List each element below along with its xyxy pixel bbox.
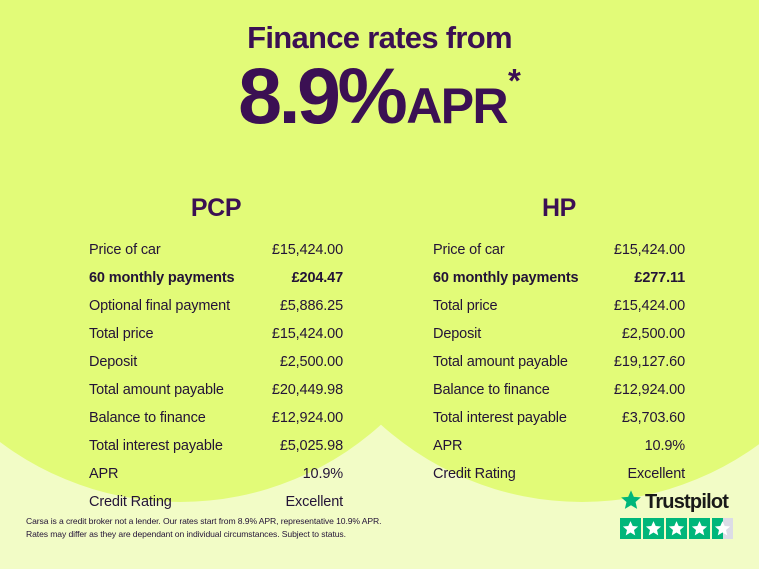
plan-table-hp: HP Price of car£15,424.0060 monthly paym… [433, 194, 685, 494]
plan-title-hp: HP [433, 194, 685, 223]
row-label: 60 monthly payments [433, 270, 578, 286]
row-label: Total interest payable [89, 438, 223, 454]
disclaimer-text: Carsa is a credit broker not a lender. O… [26, 515, 446, 541]
row-value: £277.11 [634, 270, 685, 286]
row-label: Total amount payable [433, 354, 568, 370]
row-value: £19,127.60 [614, 354, 685, 370]
row-value: £2,500.00 [280, 354, 343, 370]
table-row: APR10.9% [433, 438, 685, 466]
table-row: Total price£15,424.00 [433, 298, 685, 326]
trustpilot-star-tile [666, 518, 687, 539]
trustpilot-star-tile [712, 518, 733, 539]
table-row: 60 monthly payments£277.11 [433, 270, 685, 298]
row-label: Optional final payment [89, 298, 230, 314]
row-value: £12,924.00 [614, 382, 685, 398]
row-label: Deposit [89, 354, 137, 370]
row-label: APR [89, 466, 118, 482]
row-value: £204.47 [292, 270, 343, 286]
trustpilot-logo: Trustpilot [620, 490, 736, 514]
table-row: Deposit£2,500.00 [89, 354, 343, 382]
header: Finance rates from 8.9% APR * [0, 19, 759, 135]
trustpilot-wordmark-text: Trustpilot [645, 492, 728, 512]
rate-unit: APR [406, 81, 507, 131]
row-value: £3,703.60 [622, 410, 685, 426]
row-label: 60 monthly payments [89, 270, 234, 286]
table-row: Optional final payment£5,886.25 [89, 298, 343, 326]
row-value: £15,424.00 [272, 242, 343, 258]
trustpilot-star-icon [620, 489, 642, 516]
row-value: £5,025.98 [280, 438, 343, 454]
row-label: APR [433, 438, 462, 454]
row-value: 10.9% [645, 438, 685, 454]
row-value: £20,449.98 [272, 382, 343, 398]
row-label: Total amount payable [89, 382, 224, 398]
row-label: Total interest payable [433, 410, 567, 426]
table-row: 60 monthly payments£204.47 [89, 270, 343, 298]
plan-rows-hp: Price of car£15,424.0060 monthly payment… [433, 242, 685, 494]
row-value: £5,886.25 [280, 298, 343, 314]
trustpilot-star-tile [689, 518, 710, 539]
row-value: Excellent [628, 466, 686, 482]
table-row: Deposit£2,500.00 [433, 326, 685, 354]
plan-rows-pcp: Price of car£15,424.0060 monthly payment… [89, 242, 343, 522]
headline-rate: 8.9% APR * [0, 56, 759, 135]
row-value: £2,500.00 [622, 326, 685, 342]
row-label: Deposit [433, 326, 481, 342]
plan-table-pcp: PCP Price of car£15,424.0060 monthly pay… [89, 194, 343, 522]
row-label: Price of car [89, 242, 161, 258]
row-label: Credit Rating [89, 494, 172, 510]
table-row: Total interest payable£3,703.60 [433, 410, 685, 438]
row-value: 10.9% [303, 466, 343, 482]
trustpilot-stars [620, 518, 736, 539]
table-row: Price of car£15,424.00 [433, 242, 685, 270]
trustpilot-rating: Trustpilot [620, 490, 736, 539]
asterisk-mark: * [508, 64, 521, 97]
plan-title-pcp: PCP [89, 194, 343, 223]
disclaimer-line-1: Carsa is a credit broker not a lender. O… [26, 515, 446, 528]
promo-graphic: Finance rates from 8.9% APR * PCP Price … [0, 0, 759, 569]
row-label: Balance to finance [433, 382, 550, 398]
table-row: Total price£15,424.00 [89, 326, 343, 354]
row-label: Credit Rating [433, 466, 516, 482]
row-value: £12,924.00 [272, 410, 343, 426]
row-label: Total price [89, 326, 153, 342]
disclaimer-line-2: Rates may differ as they are dependant o… [26, 528, 446, 541]
row-value: Excellent [286, 494, 344, 510]
trustpilot-star-tile [643, 518, 664, 539]
table-row: Total interest payable£5,025.98 [89, 438, 343, 466]
row-label: Balance to finance [89, 410, 206, 426]
row-value: £15,424.00 [614, 298, 685, 314]
table-row: Balance to finance£12,924.00 [89, 410, 343, 438]
rate-value: 8.9% [238, 56, 404, 135]
row-value: £15,424.00 [272, 326, 343, 342]
row-label: Total price [433, 298, 497, 314]
table-row: APR10.9% [89, 466, 343, 494]
trustpilot-star-tile [620, 518, 641, 539]
table-row: Balance to finance£12,924.00 [433, 382, 685, 410]
table-row: Price of car£15,424.00 [89, 242, 343, 270]
table-row: Total amount payable£19,127.60 [433, 354, 685, 382]
row-label: Price of car [433, 242, 505, 258]
row-value: £15,424.00 [614, 242, 685, 258]
table-row: Total amount payable£20,449.98 [89, 382, 343, 410]
